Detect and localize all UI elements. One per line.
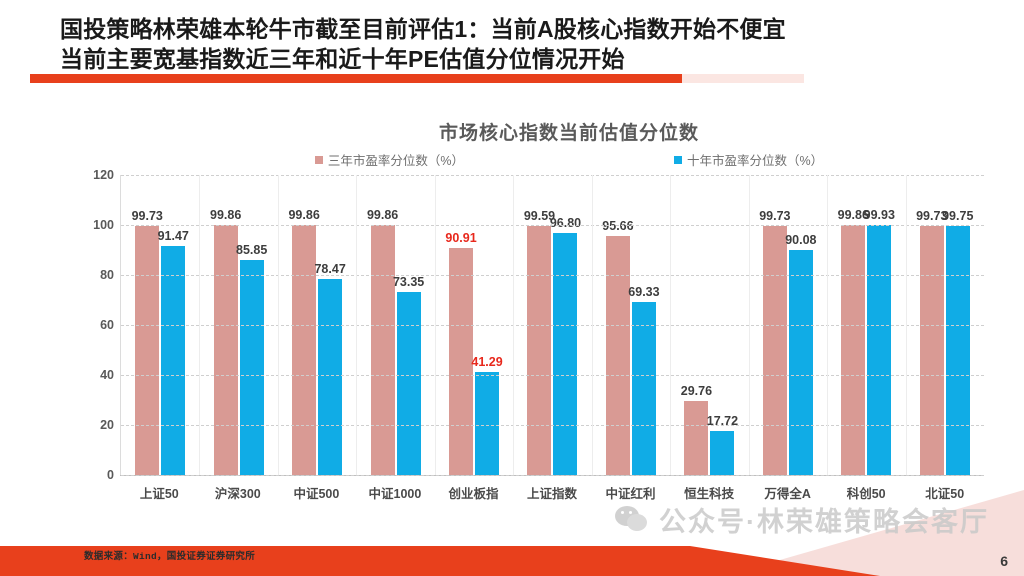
bar-value-label: 73.35 xyxy=(393,275,424,289)
legend-label-10y: 十年市盈率分位数（%） xyxy=(687,150,823,169)
bar: 17.72 xyxy=(710,431,734,475)
bar-value-label: 99.86 xyxy=(210,208,241,222)
page-title: 国投策略林荣雄本轮牛市截至目前评估1：当前A股核心指数开始不便宜 当前主要宽基指… xyxy=(60,14,990,74)
bar: 99.73 xyxy=(763,226,787,475)
bar: 69.33 xyxy=(632,302,656,475)
bar-value-label: 96.80 xyxy=(550,216,581,230)
x-tick-label: 中证红利 xyxy=(591,483,670,502)
bar-value-label: 41.29 xyxy=(471,355,502,369)
bar: 95.66 xyxy=(606,236,630,475)
chart-title: 市场核心指数当前估值分位数 xyxy=(84,118,984,145)
x-tick-label: 上证50 xyxy=(120,483,199,502)
bar: 99.73 xyxy=(135,226,159,475)
plot-area: 99.7391.4799.8685.8599.8678.4799.8673.35… xyxy=(120,175,984,475)
chart-legend: 三年市盈率分位数（%） 十年市盈率分位数（%） xyxy=(84,150,984,169)
bar-value-label: 99.86 xyxy=(367,208,398,222)
category-separator xyxy=(513,175,514,475)
title-underline xyxy=(30,74,682,83)
bar-value-label: 99.75 xyxy=(942,209,973,223)
page-number: 6 xyxy=(1000,553,1008,569)
bar-value-label: 69.33 xyxy=(628,285,659,299)
x-tick-label: 恒生科技 xyxy=(670,483,749,502)
legend-item-3y: 三年市盈率分位数（%） xyxy=(315,150,464,169)
gridline xyxy=(121,225,984,226)
bar-value-label: 85.85 xyxy=(236,243,267,257)
y-tick-label: 60 xyxy=(100,318,114,332)
y-tick-label: 0 xyxy=(107,468,114,482)
y-axis: 020406080100120 xyxy=(84,175,120,475)
category-separator xyxy=(199,175,200,475)
chart-container: 市场核心指数当前估值分位数 三年市盈率分位数（%） 十年市盈率分位数（%） 02… xyxy=(84,118,984,518)
bar: 99.93 xyxy=(867,225,891,475)
category-separator xyxy=(592,175,593,475)
x-tick-label: 万得全A xyxy=(748,483,827,502)
gridline xyxy=(121,475,984,476)
bar: 78.47 xyxy=(318,279,342,475)
bar: 99.75 xyxy=(946,226,970,475)
gridline xyxy=(121,375,984,376)
legend-label-3y: 三年市盈率分位数（%） xyxy=(328,150,464,169)
y-tick-label: 100 xyxy=(93,218,114,232)
category-separator xyxy=(278,175,279,475)
gridline xyxy=(121,325,984,326)
bar: 99.86 xyxy=(371,225,395,475)
legend-item-10y: 十年市盈率分位数（%） xyxy=(674,150,823,169)
bar: 73.35 xyxy=(397,292,421,475)
bar-value-label: 99.86 xyxy=(288,208,319,222)
gridline xyxy=(121,275,984,276)
x-tick-label: 中证500 xyxy=(277,483,356,502)
bar: 96.80 xyxy=(553,233,577,475)
category-separator xyxy=(906,175,907,475)
x-tick-label: 中证1000 xyxy=(356,483,435,502)
bar: 99.86 xyxy=(214,225,238,475)
decor-red-band xyxy=(0,516,1024,576)
title-underline-soft xyxy=(682,74,804,83)
y-tick-label: 80 xyxy=(100,268,114,282)
title-line-1: 国投策略林荣雄本轮牛市截至目前评估1：当前A股核心指数开始不便宜 xyxy=(60,14,990,44)
bar: 99.86 xyxy=(292,225,316,475)
x-tick-label: 沪深300 xyxy=(199,483,278,502)
x-tick-label: 创业板指 xyxy=(434,483,513,502)
bar-value-label: 90.91 xyxy=(445,231,476,245)
x-tick-label: 科创50 xyxy=(827,483,906,502)
bar: 90.91 xyxy=(449,248,473,475)
bar: 85.85 xyxy=(240,260,264,475)
bar-value-label: 99.73 xyxy=(132,209,163,223)
category-separator xyxy=(827,175,828,475)
decor-red-wedge xyxy=(690,516,880,576)
bar: 41.29 xyxy=(475,372,499,475)
bar: 91.47 xyxy=(161,246,185,475)
bar-value-label: 78.47 xyxy=(314,262,345,276)
bar-value-label: 91.47 xyxy=(158,229,189,243)
legend-swatch-3y xyxy=(315,156,323,164)
bar-value-label: 99.93 xyxy=(864,208,895,222)
gridline xyxy=(121,425,984,426)
source-note: 数据来源：Wind，国投证券证券研究所 xyxy=(84,548,255,562)
y-tick-label: 120 xyxy=(93,168,114,182)
bar-value-label: 29.76 xyxy=(681,384,712,398)
category-separator xyxy=(356,175,357,475)
x-tick-label: 上证指数 xyxy=(513,483,592,502)
bar: 99.59 xyxy=(527,226,551,475)
bar: 90.08 xyxy=(789,250,813,475)
bar: 29.76 xyxy=(684,401,708,475)
y-tick-label: 40 xyxy=(100,368,114,382)
x-axis: 上证50沪深300中证500中证1000创业板指上证指数中证红利恒生科技万得全A… xyxy=(120,475,984,502)
category-separator xyxy=(670,175,671,475)
category-separator xyxy=(435,175,436,475)
y-tick-label: 20 xyxy=(100,418,114,432)
bar: 99.73 xyxy=(920,226,944,475)
legend-swatch-10y xyxy=(674,156,682,164)
bar: 99.86 xyxy=(841,225,865,475)
title-line-2: 当前主要宽基指数近三年和近十年PE估值分位情况开始 xyxy=(60,44,990,74)
x-tick-label: 北证50 xyxy=(905,483,984,502)
bar-value-label: 99.73 xyxy=(759,209,790,223)
plot-row: 020406080100120 99.7391.4799.8685.8599.8… xyxy=(84,175,984,475)
bar-value-label: 90.08 xyxy=(785,233,816,247)
slide-canvas: 国投策略林荣雄本轮牛市截至目前评估1：当前A股核心指数开始不便宜 当前主要宽基指… xyxy=(0,0,1024,576)
gridline xyxy=(121,175,984,176)
category-separator xyxy=(749,175,750,475)
